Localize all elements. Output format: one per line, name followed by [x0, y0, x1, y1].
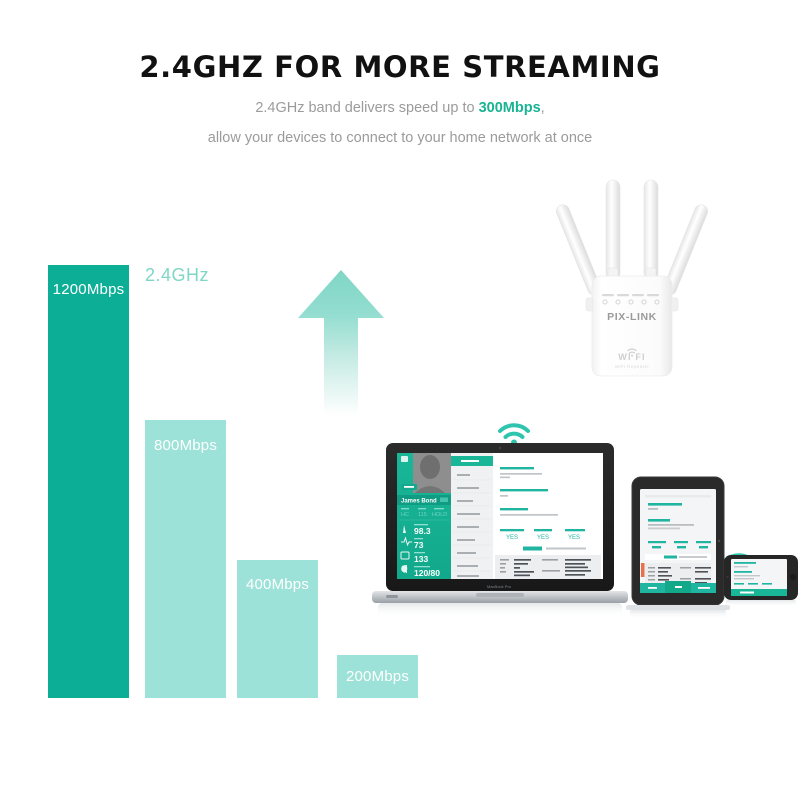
tablet-warning-badge: [664, 556, 677, 559]
subtitle-highlight: 300Mbps: [479, 100, 541, 116]
laptop-device: James Bond HC 115 HOLD 98.3: [372, 443, 628, 617]
bar-label-200mbps: 200Mbps: [337, 668, 418, 685]
patient-status-badge: [440, 498, 448, 503]
laptop-brand-label: MacBook Pro: [487, 584, 512, 589]
bar-200mbps: 200Mbps: [337, 655, 418, 698]
phone-camera: [727, 576, 729, 578]
laptop-reflection: [378, 603, 622, 617]
wifi-router-device: PIX-LINK WI FI WiFi Repeater: [548, 172, 716, 377]
patient-panel-logo: [401, 456, 408, 462]
band-label: 2.4GHz: [145, 265, 209, 286]
svg-text:115: 115: [418, 512, 427, 518]
laptop-consent-row: YES YES YES: [500, 529, 585, 541]
bar-400mbps: 400Mbps: [237, 560, 318, 698]
laptop-warning-badge: [523, 547, 542, 551]
patient-name-label: James Bond: [401, 499, 437, 505]
subtitle-line-2: allow your devices to connect to your ho…: [0, 130, 800, 146]
subtitle-line-1: 2.4GHz band delivers speed up to 300Mbps…: [0, 100, 800, 116]
router-antenna-base-right: [671, 298, 678, 311]
router-antenna-base-left: [586, 298, 593, 311]
svg-text:YES: YES: [568, 535, 580, 541]
router-wifi-wordmark: WI FI WiFi Repeater: [615, 349, 650, 369]
phone-device: [724, 555, 798, 607]
router-brand-label: PIX-LINK: [607, 311, 657, 323]
metric-value-blood-pressure: 120/80: [414, 568, 440, 578]
device-cluster: James Bond HC 115 HOLD 98.3: [368, 415, 798, 630]
router-antenna-inner-right: [644, 180, 658, 282]
laptop-screen-content: James Bond HC 115 HOLD 98.3: [397, 453, 603, 579]
metric-value-weight: 133: [414, 554, 428, 564]
router-antenna-inner-left: [606, 180, 620, 282]
tablet-home-button: [718, 540, 720, 542]
metric-value-pulse: 73: [414, 540, 424, 550]
svg-text:WiFi Repeater: WiFi Repeater: [615, 364, 650, 369]
laptop-trackpad-notch: [476, 593, 524, 597]
svg-text:HC: HC: [401, 512, 409, 518]
laptop-foot: [386, 595, 398, 598]
bar-label-1200mbps: 1200Mbps: [48, 281, 129, 298]
promo-banner: 2.4GHZ FOR MORE STREAMING 2.4GHz band de…: [0, 0, 800, 800]
bar-label-800mbps: 800Mbps: [145, 437, 226, 454]
svg-text:WI FI: WI FI: [618, 352, 646, 362]
bar-label-400mbps: 400Mbps: [237, 576, 318, 593]
laptop-nav-column: [451, 453, 493, 579]
subtitle-text-after: ,: [541, 100, 545, 116]
subtitle-text-before: 2.4GHz band delivers speed up to: [255, 100, 478, 116]
svg-text:HOLD: HOLD: [432, 512, 447, 518]
bar-800mbps: 800Mbps: [145, 420, 226, 698]
page-title: 2.4GHZ FOR MORE STREAMING: [0, 50, 800, 84]
laptop-camera: [499, 447, 501, 449]
tablet-device: [626, 477, 730, 619]
svg-text:YES: YES: [506, 535, 518, 541]
phone-home-button: [790, 574, 796, 580]
up-arrow-icon: [296, 268, 386, 416]
svg-text:YES: YES: [537, 535, 549, 541]
bar-1200mbps: 1200Mbps: [48, 265, 129, 698]
tablet-alert-stripe: [641, 563, 645, 577]
metric-value-temperature: 98.3: [414, 526, 431, 536]
